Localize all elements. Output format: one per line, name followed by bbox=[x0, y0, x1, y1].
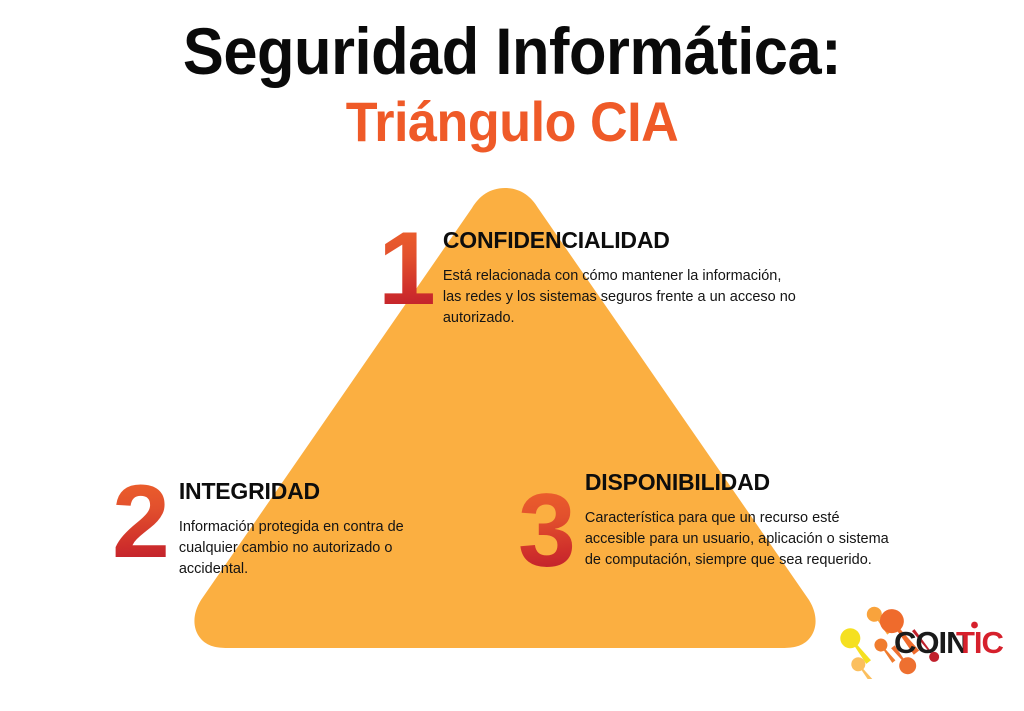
poster-title: Seguridad Informática: Triángulo CIA bbox=[0, 18, 1024, 150]
item-heading-integridad: INTEGRIDAD bbox=[179, 478, 512, 505]
principle-item-disponibilidad: 3 DISPONIBILIDAD Característica para que… bbox=[518, 469, 938, 572]
item-description-confidencialidad: Está relacionada con cómo mantener la in… bbox=[443, 266, 803, 329]
infographic-poster: Seguridad Informática: Triángulo CIA 1 C… bbox=[0, 0, 1024, 711]
title-line-primary: Seguridad Informática: bbox=[36, 18, 988, 84]
principle-item-integridad: 2 INTEGRIDAD Información protegida en co… bbox=[112, 478, 512, 580]
item-heading-confidencialidad: CONFIDENCIALIDAD bbox=[443, 227, 803, 254]
logo-wordmark-accent: TIC bbox=[956, 625, 1004, 660]
cointic-logo[interactable]: COIN TIC bbox=[832, 597, 1012, 679]
principle-item-confidencialidad: 1 CONFIDENCIALIDAD Está relacionada con … bbox=[378, 227, 798, 329]
item-body-1: CONFIDENCIALIDAD Está relacionada con có… bbox=[443, 227, 803, 329]
item-body-3: DISPONIBILIDAD Característica para que u… bbox=[585, 469, 938, 571]
item-description-integridad: Información protegida en contra de cualq… bbox=[179, 517, 464, 580]
logo-i-dot-icon bbox=[971, 622, 978, 629]
item-number-3: 3 bbox=[518, 491, 573, 572]
item-body-2: INTEGRIDAD Información protegida en cont… bbox=[179, 478, 512, 580]
title-line-secondary: Triángulo CIA bbox=[36, 94, 988, 150]
item-number-1: 1 bbox=[378, 229, 433, 310]
item-heading-disponibilidad: DISPONIBILIDAD bbox=[585, 469, 938, 496]
item-description-disponibilidad: Característica para que un recurso esté … bbox=[585, 508, 890, 571]
item-number-2: 2 bbox=[112, 482, 167, 563]
